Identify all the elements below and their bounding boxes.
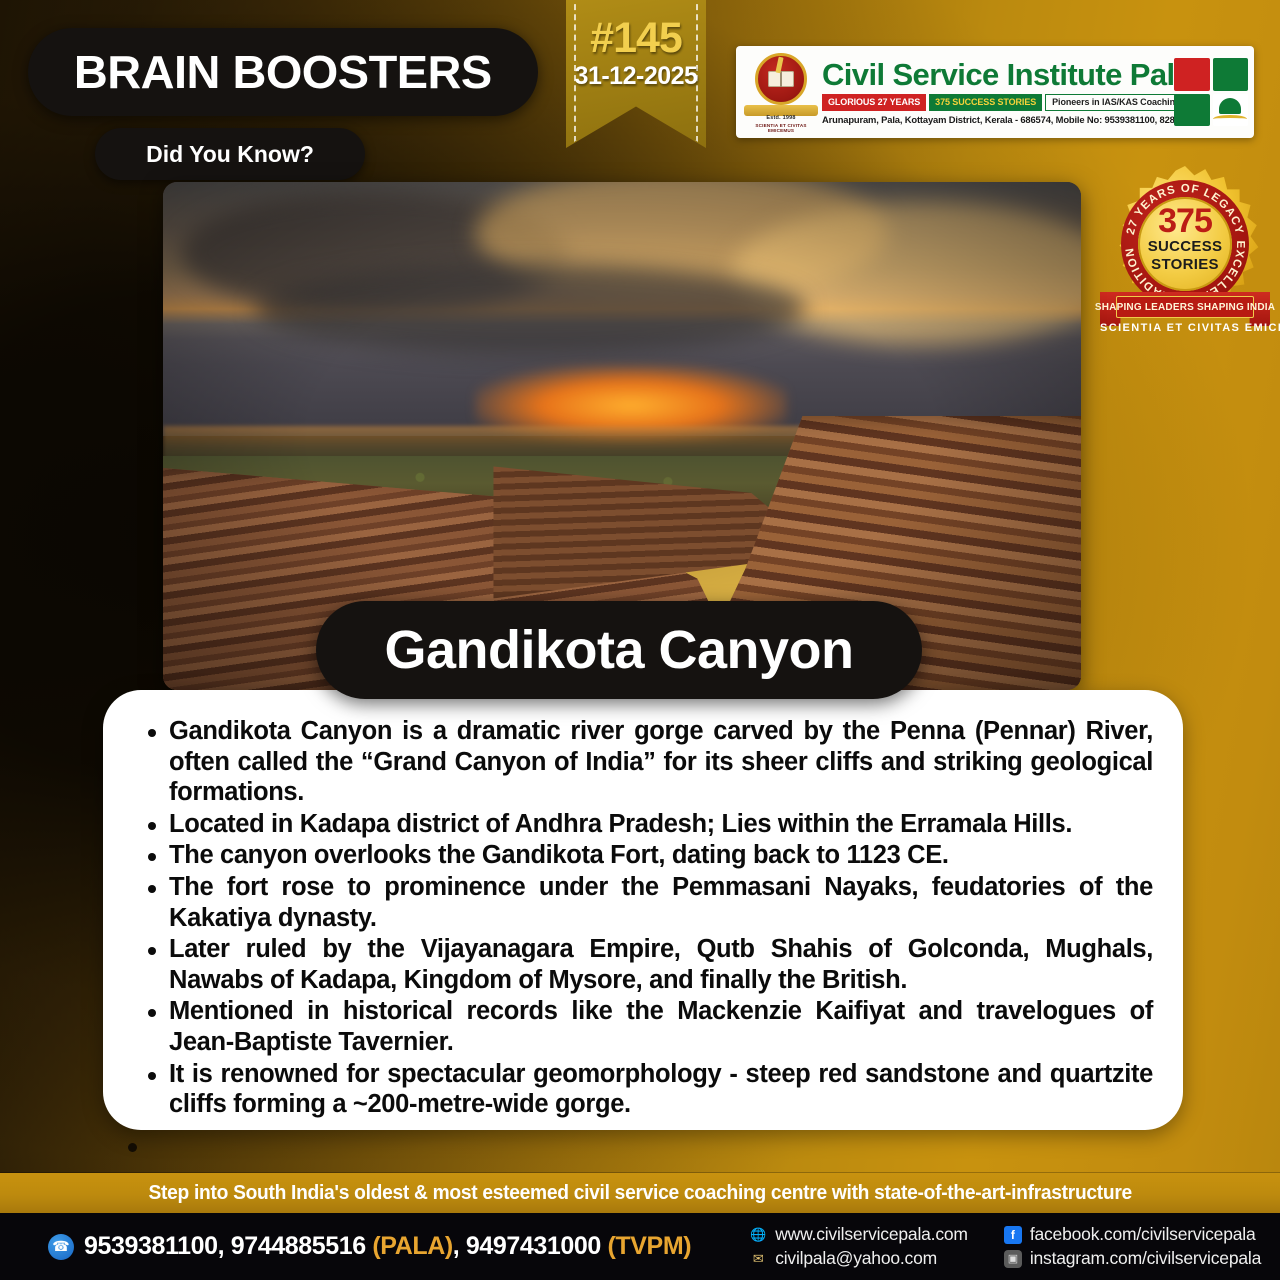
list-item: Gandikota Canyon is a dramatic river gor… <box>135 716 1153 808</box>
medal-word-stories: STORIES <box>1138 256 1232 273</box>
footer-email[interactable]: civilpala@yahoo.com <box>775 1248 937 1269</box>
medal-count: 375 <box>1138 204 1232 238</box>
institute-logo-bar: Estd. 1998 SCIENTIA ET CIVITAS EMICEMUS … <box>736 46 1254 138</box>
poster-root: BRAIN BOOSTERS Did You Know? #145 31-12-… <box>0 0 1280 1280</box>
stray-bullet-marker <box>128 1143 137 1152</box>
footer-phones: ☎ 9539381100, 9744885516 (PALA), 9497431… <box>0 1232 691 1261</box>
list-item: The canyon overlooks the Gandikota Fort,… <box>135 840 1153 871</box>
list-item: Located in Kadapa district of Andhra Pra… <box>135 809 1153 840</box>
phone-number-1: 9539381100, 9744885516 <box>84 1232 372 1260</box>
footer-website[interactable]: www.civilservicepala.com <box>775 1224 968 1245</box>
tag-success-stories: 375 SUCCESS STORIES <box>929 94 1042 111</box>
footer-facebook[interactable]: facebook.com/civilservicepala <box>1030 1224 1256 1245</box>
footer-instagram-row[interactable]: ▣ instagram.com/civilservicepala <box>1004 1248 1261 1269</box>
footer-facebook-row[interactable]: f facebook.com/civilservicepala <box>1004 1224 1261 1245</box>
tag-glorious-years: GLORIOUS 27 YEARS <box>822 94 926 111</box>
logo-flag-blocks <box>1174 58 1248 126</box>
phone-location-pala: (PALA) <box>372 1232 452 1260</box>
did-you-know-pill: Did You Know? <box>95 128 365 180</box>
palm-wave <box>1213 115 1247 123</box>
did-you-know-label: Did You Know? <box>146 141 314 168</box>
footer-phone-numbers: 9539381100, 9744885516 (PALA), 949743100… <box>84 1232 691 1261</box>
logo-tag-row: GLORIOUS 27 YEARS 375 SUCCESS STORIES Pi… <box>822 94 1170 111</box>
crest-estd-label: Estd. 1998 <box>744 115 818 121</box>
palm-leaf-icon <box>1213 94 1249 127</box>
medal-banner-text: SHAPING LEADERS SHAPING INDIA <box>1095 302 1275 313</box>
flag-square-green-2 <box>1174 94 1210 127</box>
footer-email-row[interactable]: ✉ civilpala@yahoo.com <box>749 1248 968 1269</box>
page-title: Gandikota Canyon <box>384 619 853 681</box>
tag-pioneers: Pioneers in IAS/KAS Coaching <box>1045 94 1187 111</box>
palm-fan <box>1219 98 1241 114</box>
brain-boosters-label: BRAIN BOOSTERS <box>74 45 492 99</box>
flag-square-green-1 <box>1213 58 1249 91</box>
footer-website-row[interactable]: 🌐 www.civilservicepala.com <box>749 1224 968 1245</box>
phone-location-tvpm: (TVPM) <box>607 1232 691 1260</box>
brain-boosters-pill: BRAIN BOOSTERS <box>28 28 538 116</box>
globe-icon: 🌐 <box>749 1226 767 1244</box>
list-item: It is renowned for spectacular geomorpho… <box>135 1059 1153 1120</box>
institute-crest-icon: Estd. 1998 SCIENTIA ET CIVITAS EMICEMUS <box>744 51 818 133</box>
issue-ribbon: #145 31-12-2025 <box>566 0 706 148</box>
footer-tagline: Step into South India's oldest & most es… <box>148 1182 1131 1205</box>
issue-number: #145 <box>566 14 706 63</box>
medal-ribbon-plate: SHAPING LEADERS SHAPING INDIA <box>1116 296 1254 318</box>
footer-tagline-strip: Step into South India's oldest & most es… <box>0 1173 1280 1213</box>
issue-date: 31-12-2025 <box>566 62 706 91</box>
footer-instagram[interactable]: instagram.com/civilservicepala <box>1030 1248 1261 1269</box>
list-item: Later ruled by the Vijayanagara Empire, … <box>135 934 1153 995</box>
footer-bar: ☎ 9539381100, 9744885516 (PALA), 9497431… <box>0 1213 1280 1280</box>
footer-social-column: f facebook.com/civilservicepala ▣ instag… <box>1004 1224 1261 1269</box>
header-bar: BRAIN BOOSTERS Did You Know? #145 31-12-… <box>0 0 1280 180</box>
medal-motto: SCIENTIA ET CIVITAS EMICEMUS <box>1100 322 1270 334</box>
crest-motto-label: SCIENTIA ET CIVITAS EMICEMUS <box>742 123 820 133</box>
list-item: Mentioned in historical records like the… <box>135 996 1153 1057</box>
list-item: The fort rose to prominence under the Pe… <box>135 872 1153 933</box>
medal-word-success: SUCCESS <box>1138 238 1232 255</box>
facts-card: Gandikota Canyon is a dramatic river gor… <box>103 690 1183 1130</box>
footer-web-column: 🌐 www.civilservicepala.com ✉ civilpala@y… <box>749 1224 968 1269</box>
logo-text-block: Civil Service Institute Pala GLORIOUS 27… <box>818 59 1170 125</box>
topic-title-pill: Gandikota Canyon <box>316 601 922 699</box>
envelope-icon: ✉ <box>749 1250 767 1268</box>
facebook-icon: f <box>1004 1226 1022 1244</box>
phone-number-2: , 9497431000 <box>453 1232 608 1260</box>
flag-square-red <box>1174 58 1210 91</box>
success-stories-medal: 27 YEARS OF LEGACY EXCELLENCE TRADITION … <box>1100 166 1270 342</box>
institute-address: Arunapuram, Pala, Kottayam District, Ker… <box>822 114 1170 125</box>
phone-icon: ☎ <box>48 1234 74 1260</box>
facts-list: Gandikota Canyon is a dramatic river gor… <box>135 716 1153 1120</box>
institute-name: Civil Service Institute Pala <box>822 59 1170 91</box>
book-icon <box>768 71 794 87</box>
instagram-icon: ▣ <box>1004 1250 1022 1268</box>
